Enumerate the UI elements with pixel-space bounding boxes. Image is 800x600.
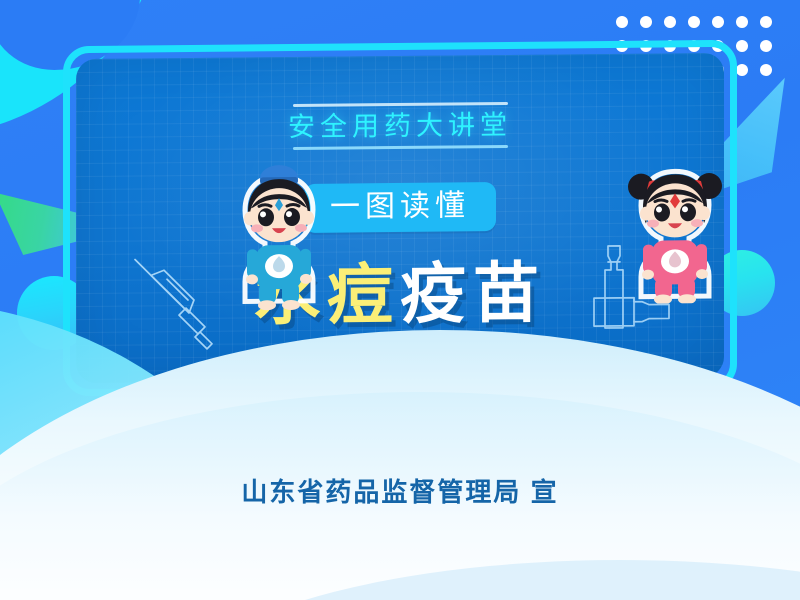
dot [640, 16, 652, 28]
dot [712, 16, 724, 28]
dot [736, 16, 748, 28]
footer-attribution: 山东省药品监督管理局 宣 [0, 472, 800, 509]
boy-mascot [223, 160, 335, 316]
kicker-rule-bottom [293, 145, 508, 150]
dot [736, 64, 748, 76]
dot [616, 16, 628, 28]
dot [664, 16, 676, 28]
girl-mascot [619, 153, 731, 309]
dot [688, 16, 700, 28]
dot [760, 40, 772, 52]
syringe-icon [124, 248, 216, 358]
kicker-text: 安全用药大讲堂 [288, 105, 512, 147]
kicker-block: 安全用药大讲堂 [288, 102, 512, 150]
dot [760, 64, 772, 76]
poster-canvas: 安全用药大讲堂 一图读懂 水痘疫苗 [0, 0, 800, 600]
main-title-white: 疫苗 [400, 256, 546, 331]
dot [760, 16, 772, 28]
dot [736, 40, 748, 52]
